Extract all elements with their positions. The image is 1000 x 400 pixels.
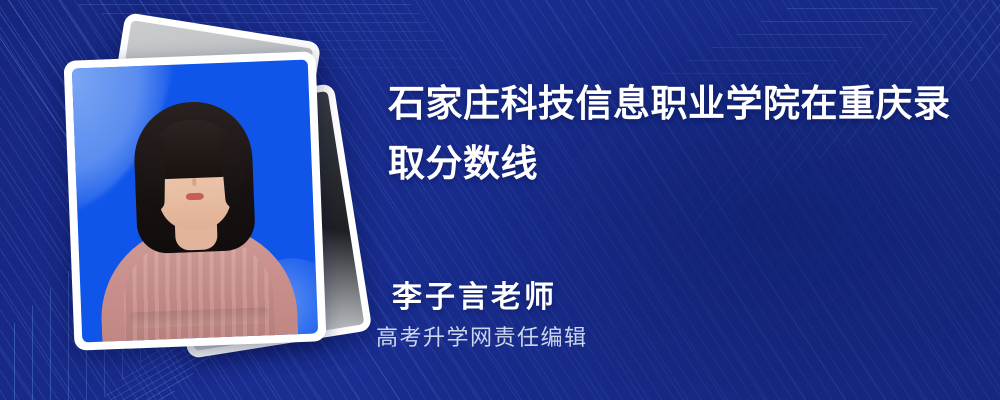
banner-text-column: 石家庄科技信息职业学院在重庆录取分数线 李子言老师 高考升学网责任编辑 xyxy=(388,0,988,400)
page-title: 石家庄科技信息职业学院在重庆录取分数线 xyxy=(388,74,954,194)
portrait-mouth xyxy=(186,193,204,201)
banner-image: 石家庄科技信息职业学院在重庆录取分数线 李子言老师 高考升学网责任编辑 xyxy=(0,0,1000,400)
author-name: 李子言老师 xyxy=(392,272,557,316)
author-role: 高考升学网责任编辑 xyxy=(376,320,588,352)
photo-card-main xyxy=(64,51,327,350)
avatar xyxy=(72,60,318,343)
photo-card-stack xyxy=(60,22,360,372)
portrait-illustration xyxy=(72,60,318,343)
portrait-nose xyxy=(192,178,196,186)
